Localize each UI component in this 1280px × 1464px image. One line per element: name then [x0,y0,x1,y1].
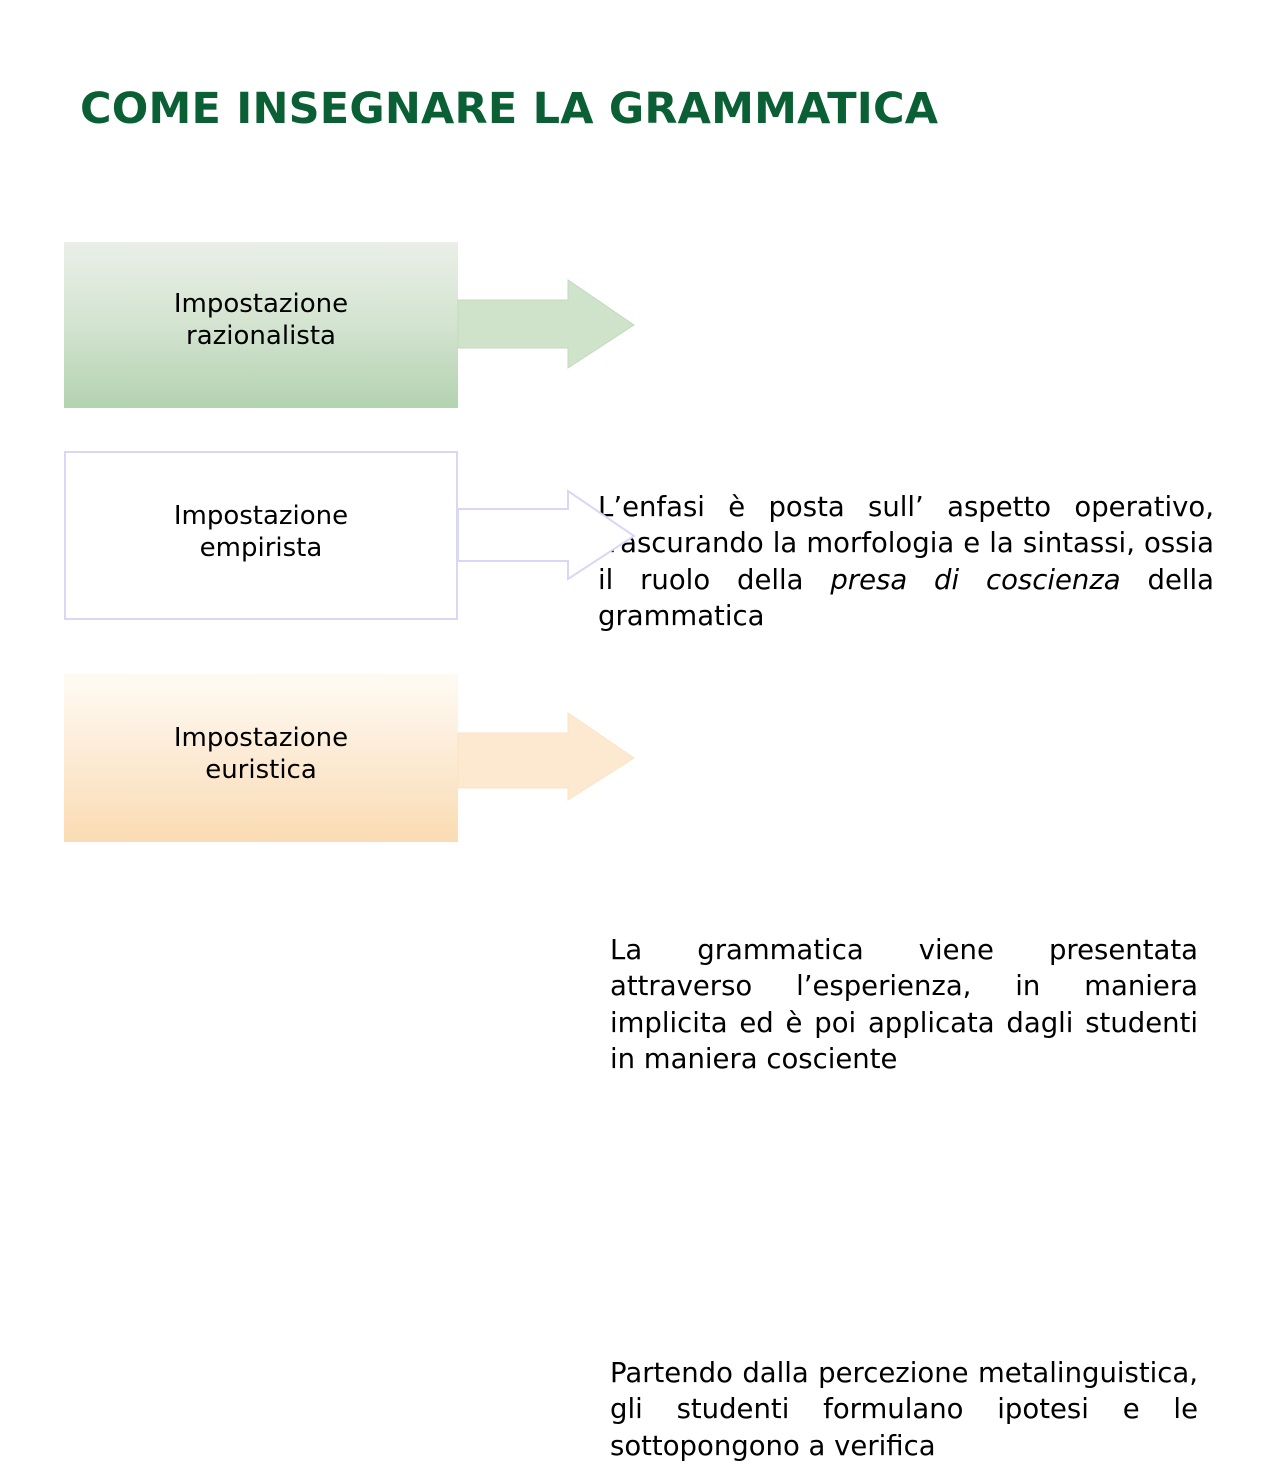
body-text-empirista: La grammatica viene presentata attravers… [610,932,1198,1077]
label-line-1: Impostazione [174,501,348,531]
row-razionalista: Impostazione razionalista L’enfasi è pos… [0,242,1280,408]
page-title: COME INSEGNARE LA GRAMMATICA [80,87,1200,132]
arrow-right-icon-empirista [458,451,638,620]
arrow-right-icon-razionalista [458,242,638,408]
label-box-empirista[interactable]: Impostazione empirista [64,451,458,620]
label-line-2: empirista [200,533,323,563]
label-text-empirista: Impostazione empirista [156,501,366,564]
body-seg-plain: La grammatica viene presentata attravers… [610,934,1198,1075]
label-box-euristica[interactable]: Impostazione euristica [64,674,458,842]
label-box-razionalista[interactable]: Impostazione razionalista [64,242,458,408]
label-line-2: euristica [205,755,317,785]
label-text-euristica: Impostazione euristica [156,723,366,786]
label-line-2: razionalista [186,321,336,351]
label-line-1: Impostazione [174,289,348,319]
arrow-right-icon-euristica [458,674,638,842]
label-text-razionalista: Impostazione razionalista [156,289,366,352]
row-empirista: Impostazione empirista La grammatica vie… [0,451,1280,620]
label-line-1: Impostazione [174,723,348,753]
body-text-euristica: Partendo dalla percezione metalinguistic… [610,1355,1198,1464]
row-euristica: Impostazione euristica Partendo dalla pe… [0,674,1280,842]
slide-canvas: COME INSEGNARE LA GRAMMATICA Impostazion… [0,0,1280,960]
body-seg-plain: Partendo dalla percezione metalinguistic… [610,1357,1198,1462]
